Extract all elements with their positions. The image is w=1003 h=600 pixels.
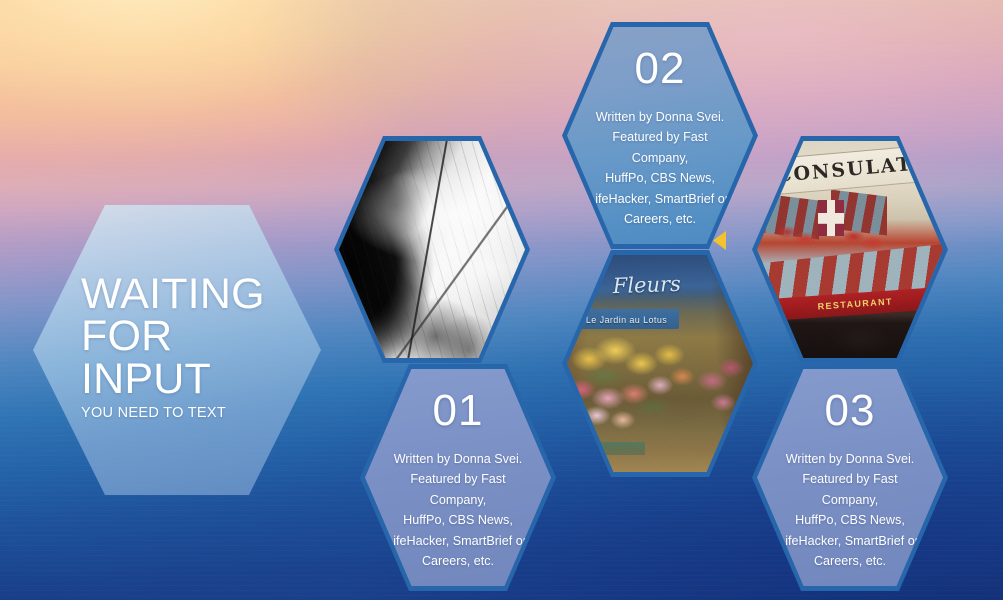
title-subtitle: YOU NEED TO TEXT [81, 405, 321, 421]
slide-canvas: WAITING FOR INPUT YOU NEED TO TEXT 02 Wr… [0, 0, 1003, 600]
hexagon-01-number: 01 [433, 389, 484, 433]
hexagon-photo-cafe[interactable]: CONSULAT RESTAURANT [752, 136, 948, 363]
hexagon-03[interactable]: 03 Written by Donna Svei. Featured by Fa… [752, 364, 948, 591]
hexagon-01[interactable]: 01 Written by Donna Svei. Featured by Fa… [360, 364, 556, 591]
hexagon-photo-florist[interactable]: Fleurs Le Jardin au Lotus [562, 250, 758, 477]
hexagon-photo-portrait[interactable] [334, 136, 530, 363]
title-line-3: INPUT [81, 358, 321, 400]
hexagon-02-number: 02 [635, 47, 686, 91]
title-line-2: FOR [81, 315, 321, 357]
hexagon-03-number: 03 [825, 389, 876, 433]
title-line-1: WAITING [81, 273, 321, 315]
hexagon-02[interactable]: 02 Written by Donna Svei. Featured by Fa… [562, 22, 758, 249]
florist-sign-lotus-text: Le Jardin au Lotus [576, 311, 676, 328]
title-hexagon-content: WAITING FOR INPUT YOU NEED TO TEXT [33, 205, 321, 495]
